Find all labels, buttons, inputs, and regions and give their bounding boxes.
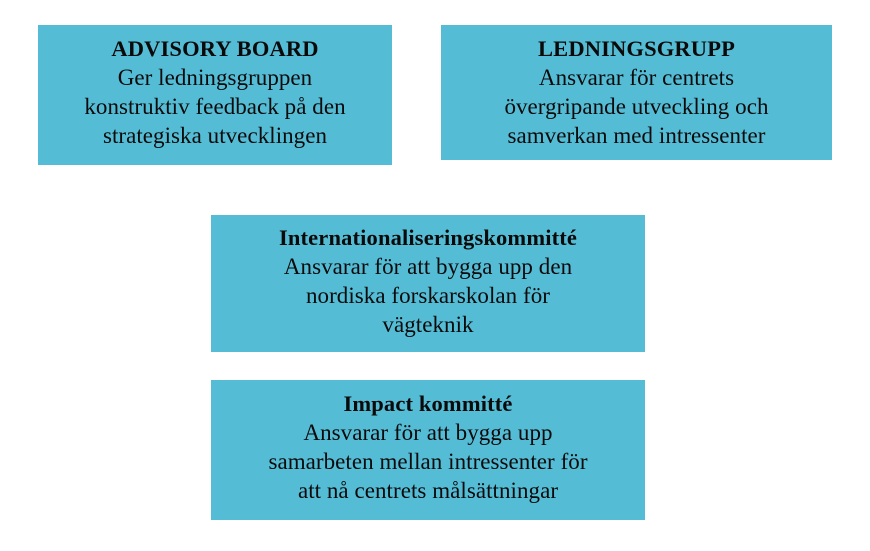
description-line: nordiska forskarskolan för — [211, 281, 645, 310]
org-box-title: Impact kommitté — [211, 380, 645, 418]
description-line: vägteknik — [211, 310, 645, 339]
description-line: att nå centrets målsättningar — [211, 476, 645, 505]
org-box-title: Internationaliseringskommitté — [211, 215, 645, 252]
org-box-impact-kommitte[interactable]: Impact kommitté Ansvarar för att bygga u… — [211, 380, 645, 520]
org-box-internationaliseringskommitte[interactable]: Internationaliseringskommitté Ansvarar f… — [211, 215, 645, 352]
description-line: Ansvarar för att bygga upp den — [211, 252, 645, 281]
org-box-description: Ansvarar för att bygga upp den nordiska … — [211, 252, 645, 339]
org-chart-canvas: ADVISORY BOARD Ger ledningsgruppen konst… — [0, 0, 870, 551]
org-box-description: Ger ledningsgruppen konstruktiv feedback… — [38, 63, 392, 150]
description-line: strategiska utvecklingen — [38, 121, 392, 150]
description-line: samarbeten mellan intressenter för — [211, 447, 645, 476]
org-box-description: Ansvarar för att bygga upp samarbeten me… — [211, 418, 645, 505]
org-box-title: ADVISORY BOARD — [38, 25, 392, 63]
description-line: Ansvarar för att bygga upp — [211, 418, 645, 447]
description-line: Ansvarar för centrets — [441, 63, 832, 92]
org-box-advisory-board[interactable]: ADVISORY BOARD Ger ledningsgruppen konst… — [38, 25, 392, 165]
org-box-ledningsgrupp[interactable]: LEDNINGSGRUPP Ansvarar för centrets över… — [441, 25, 832, 160]
description-line: konstruktiv feedback på den — [38, 92, 392, 121]
org-box-title: LEDNINGSGRUPP — [441, 25, 832, 63]
org-box-description: Ansvarar för centrets övergripande utvec… — [441, 63, 832, 150]
description-line: Ger ledningsgruppen — [38, 63, 392, 92]
description-line: samverkan med intressenter — [441, 121, 832, 150]
description-line: övergripande utveckling och — [441, 92, 832, 121]
